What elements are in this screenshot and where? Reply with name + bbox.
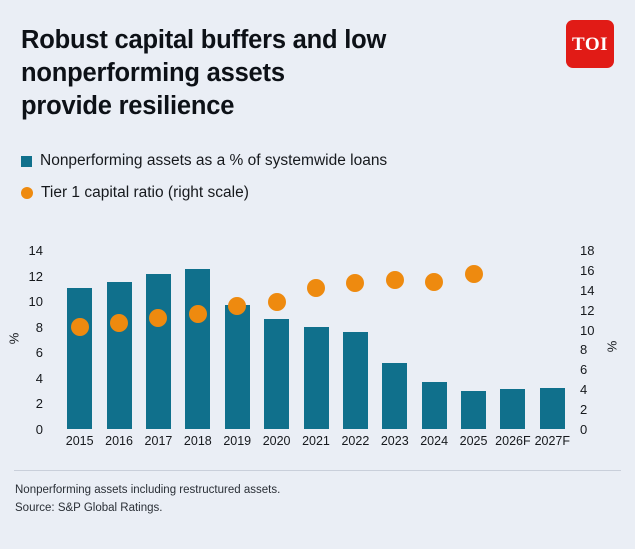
x-axis-label-2017: 2017 xyxy=(139,435,178,448)
x-axis-label-2019: 2019 xyxy=(218,435,257,448)
y-tick-10: 10 xyxy=(29,295,43,308)
footnotes: Nonperforming assets including restructu… xyxy=(15,482,615,518)
bar-2023 xyxy=(382,363,407,429)
y-tick-2: 2 xyxy=(36,397,43,410)
y-tick-4: 4 xyxy=(36,372,43,385)
y-tick-6: 6 xyxy=(580,363,587,376)
x-axis-labels: 2015201620172018201920202021202220232024… xyxy=(60,435,572,457)
bar-2027F xyxy=(540,388,565,429)
dot-2018 xyxy=(189,305,207,323)
bar-2021 xyxy=(304,327,329,429)
dot-2024 xyxy=(425,273,443,291)
y-tick-6: 6 xyxy=(36,346,43,359)
infographic-chart-card: Robust capital buffers and low nonperfor… xyxy=(0,0,635,549)
x-axis-label-2016: 2016 xyxy=(99,435,138,448)
dot-2015 xyxy=(71,318,89,336)
legend-square-icon xyxy=(21,156,32,167)
x-axis-label-2023: 2023 xyxy=(375,435,414,448)
bar-2019 xyxy=(225,305,250,429)
x-axis-label-2027F: 2027F xyxy=(533,435,572,448)
bar-2016 xyxy=(107,282,132,429)
legend-item-label: Nonperforming assets as a % of systemwid… xyxy=(40,153,387,169)
x-axis-label-2024: 2024 xyxy=(414,435,453,448)
y-tick-2: 2 xyxy=(580,403,587,416)
y-tick-0: 0 xyxy=(36,423,43,436)
dot-2023 xyxy=(386,271,404,289)
y-tick-10: 10 xyxy=(580,324,594,337)
y-tick-12: 12 xyxy=(580,304,594,317)
dot-2019 xyxy=(228,297,246,315)
chart-legend: Nonperforming assets as a % of systemwid… xyxy=(21,148,601,212)
y-tick-14: 14 xyxy=(29,244,43,257)
bar-2015 xyxy=(67,288,92,429)
dot-2017 xyxy=(149,309,167,327)
y-tick-4: 4 xyxy=(580,383,587,396)
y-tick-0: 0 xyxy=(580,423,587,436)
y-tick-16: 16 xyxy=(580,264,594,277)
page-title: Robust capital buffers and low nonperfor… xyxy=(21,24,541,123)
x-axis-label-2025: 2025 xyxy=(454,435,493,448)
x-axis-label-2018: 2018 xyxy=(178,435,217,448)
y-axis-right-ticks: 181614121086420 xyxy=(580,250,620,429)
dot-2025 xyxy=(465,265,483,283)
y-tick-14: 14 xyxy=(580,284,594,297)
plot-region xyxy=(60,250,572,429)
y-tick-8: 8 xyxy=(36,321,43,334)
bar-2018 xyxy=(185,269,210,429)
x-axis-label-2021: 2021 xyxy=(296,435,335,448)
bar-2020 xyxy=(264,319,289,429)
dot-2016 xyxy=(110,314,128,332)
legend-circle-icon xyxy=(21,187,33,199)
y-tick-8: 8 xyxy=(580,343,587,356)
toi-logo-text: TOI xyxy=(572,35,608,54)
chart-area: % % 14121086420 181614121086420 20152016… xyxy=(0,236,635,466)
y-axis-left-ticks: 14121086420 xyxy=(0,250,43,429)
bar-2017 xyxy=(146,274,171,429)
x-axis-label-2026F: 2026F xyxy=(493,435,532,448)
toi-logo: TOI xyxy=(566,20,614,68)
y-tick-12: 12 xyxy=(29,270,43,283)
x-axis-label-2020: 2020 xyxy=(257,435,296,448)
bar-2024 xyxy=(422,382,447,429)
footer-divider xyxy=(14,470,621,471)
legend-item-nonperforming-assets: Nonperforming assets as a % of systemwid… xyxy=(21,148,601,174)
dot-2021 xyxy=(307,279,325,297)
legend-item-label: Tier 1 capital ratio (right scale) xyxy=(41,185,249,201)
bar-2025 xyxy=(461,391,486,429)
x-axis-label-2022: 2022 xyxy=(336,435,375,448)
x-axis-label-2015: 2015 xyxy=(60,435,99,448)
footnote-1: Nonperforming assets including restructu… xyxy=(15,482,615,500)
dot-2020 xyxy=(268,293,286,311)
bar-2022 xyxy=(343,332,368,429)
legend-item-tier1-capital-ratio: Tier 1 capital ratio (right scale) xyxy=(21,180,601,206)
header: Robust capital buffers and low nonperfor… xyxy=(21,24,541,123)
dot-2022 xyxy=(346,274,364,292)
footnote-2: Source: S&P Global Ratings. xyxy=(15,500,615,518)
y-tick-18: 18 xyxy=(580,244,594,257)
bar-2026F xyxy=(500,389,525,429)
